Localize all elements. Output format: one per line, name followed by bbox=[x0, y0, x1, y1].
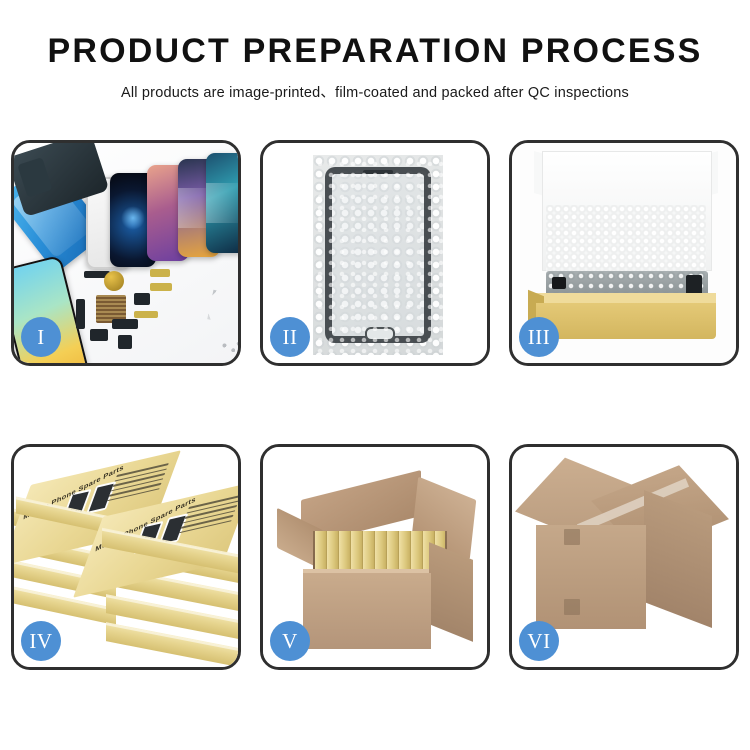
step-badge-2: II bbox=[270, 317, 310, 357]
carton-front-panel bbox=[303, 573, 431, 649]
steps-grid: I II bbox=[11, 140, 739, 670]
step-panel-5: V bbox=[260, 444, 490, 670]
bracket-part bbox=[134, 293, 150, 305]
step-badge-5: V bbox=[270, 621, 310, 661]
step-panel-4: Mobile Phone Spare Parts Mobile Phone Sp… bbox=[11, 444, 241, 670]
step-badge-6: VI bbox=[519, 621, 559, 661]
box-front-panel bbox=[536, 303, 716, 339]
screws-group bbox=[220, 339, 238, 355]
small-flex-part bbox=[76, 299, 85, 329]
step-panel-6: VI bbox=[509, 444, 739, 670]
step-panel-3: III bbox=[509, 140, 739, 366]
button-strip-part bbox=[112, 319, 138, 329]
phone-screen-5 bbox=[206, 153, 238, 253]
step-badge-3: III bbox=[519, 317, 559, 357]
foam-padding bbox=[546, 205, 706, 271]
speaker-coil-part bbox=[104, 271, 124, 291]
camera-module-part bbox=[118, 335, 132, 349]
page-subtitle: All products are image-printed、film-coat… bbox=[0, 81, 750, 102]
carton-front-panel bbox=[536, 525, 646, 629]
carton-side-panel bbox=[429, 542, 473, 642]
step-badge-1: I bbox=[21, 317, 61, 357]
flex-cable-2 bbox=[150, 283, 172, 291]
flex-cable-1 bbox=[150, 269, 170, 277]
page-title: PRODUCT PREPARATION PROCESS bbox=[0, 34, 750, 68]
flex-cable-3 bbox=[134, 311, 158, 318]
carton-tab-lower bbox=[564, 599, 580, 615]
connector-part bbox=[90, 329, 108, 341]
carton-tab-upper bbox=[564, 529, 580, 545]
step-panel-2: II bbox=[260, 140, 490, 366]
step-badge-4: IV bbox=[21, 621, 61, 661]
bubble-wrap-overlay bbox=[313, 155, 443, 355]
product-preparation-infographic: PRODUCT PREPARATION PROCESS All products… bbox=[0, 0, 750, 750]
page-header: PRODUCT PREPARATION PROCESS All products… bbox=[0, 0, 750, 102]
step-panel-1: I bbox=[11, 140, 241, 366]
